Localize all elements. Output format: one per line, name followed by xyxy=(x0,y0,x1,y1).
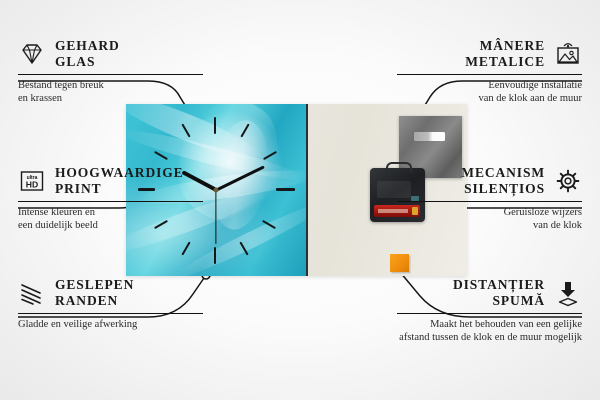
feature-manere-metalice: MÂNEREMETALICE Eenvoudige installatievan… xyxy=(397,38,582,106)
feature-gehard-glas: GEHARDGLAS Bestand tegen breuken krassen xyxy=(18,38,203,106)
feature-subtitle: Eenvoudige installatievan de klok aan de… xyxy=(397,79,582,106)
infographic-canvas: GEHARDGLAS Bestand tegen breuken krassen… xyxy=(0,0,600,400)
feature-divider xyxy=(18,74,203,75)
beveled-edges-icon xyxy=(18,279,46,307)
feature-title: GESLEPENRANDEN xyxy=(55,277,134,309)
feature-title: DISTANȚIERSPUMĂ xyxy=(453,277,545,309)
feature-subtitle: Geruisloze wijzersvan de klok xyxy=(397,206,582,233)
hanger-slot xyxy=(414,132,445,141)
diamond-icon xyxy=(18,40,46,68)
foam-spacer xyxy=(390,254,409,272)
ultra-hd-icon: ultra HD xyxy=(18,167,46,195)
feature-subtitle: Intense kleuren eneen duidelijk beeld xyxy=(18,206,203,233)
feature-mecanism-silentios: MECANISMSILENȚIOS Geruisloze wijzersvan … xyxy=(397,165,582,233)
clock-tick xyxy=(214,117,216,134)
feature-title: MECANISMSILENȚIOS xyxy=(461,165,545,197)
clock-tick xyxy=(276,188,295,191)
clock-center-hub xyxy=(214,188,219,193)
feature-title: GEHARDGLAS xyxy=(55,38,120,70)
feature-hoogwaardige-print: ultra HD HOOGWAARDIGEPRINT Intense kleur… xyxy=(18,165,203,233)
svg-text:HD: HD xyxy=(26,179,38,189)
feature-divider xyxy=(18,201,203,202)
feature-divider xyxy=(397,74,582,75)
feature-title: MÂNEREMETALICE xyxy=(465,38,545,70)
foam-spacer-icon xyxy=(554,279,582,307)
feature-distantier-spuma: DISTANȚIERSPUMĂ Maakt het behouden van e… xyxy=(397,277,582,345)
feature-subtitle: Bestand tegen breuken krassen xyxy=(18,79,203,106)
clock-tick xyxy=(214,247,216,264)
feature-divider xyxy=(397,201,582,202)
feature-divider xyxy=(18,313,203,314)
feature-title: HOOGWAARDIGEPRINT xyxy=(55,165,184,197)
feature-geslepen-randen: GESLEPENRANDEN Gladde en veilige afwerki… xyxy=(18,277,203,331)
clock-second-hand xyxy=(215,190,216,244)
gear-icon xyxy=(554,167,582,195)
feature-subtitle: Gladde en veilige afwerking xyxy=(18,318,203,331)
picture-hanger-icon xyxy=(554,40,582,68)
clock-tick xyxy=(181,242,190,256)
feature-subtitle: Maakt het behouden van een gelijkeafstan… xyxy=(397,318,582,345)
clock-tick xyxy=(154,151,168,160)
feature-divider xyxy=(397,313,582,314)
